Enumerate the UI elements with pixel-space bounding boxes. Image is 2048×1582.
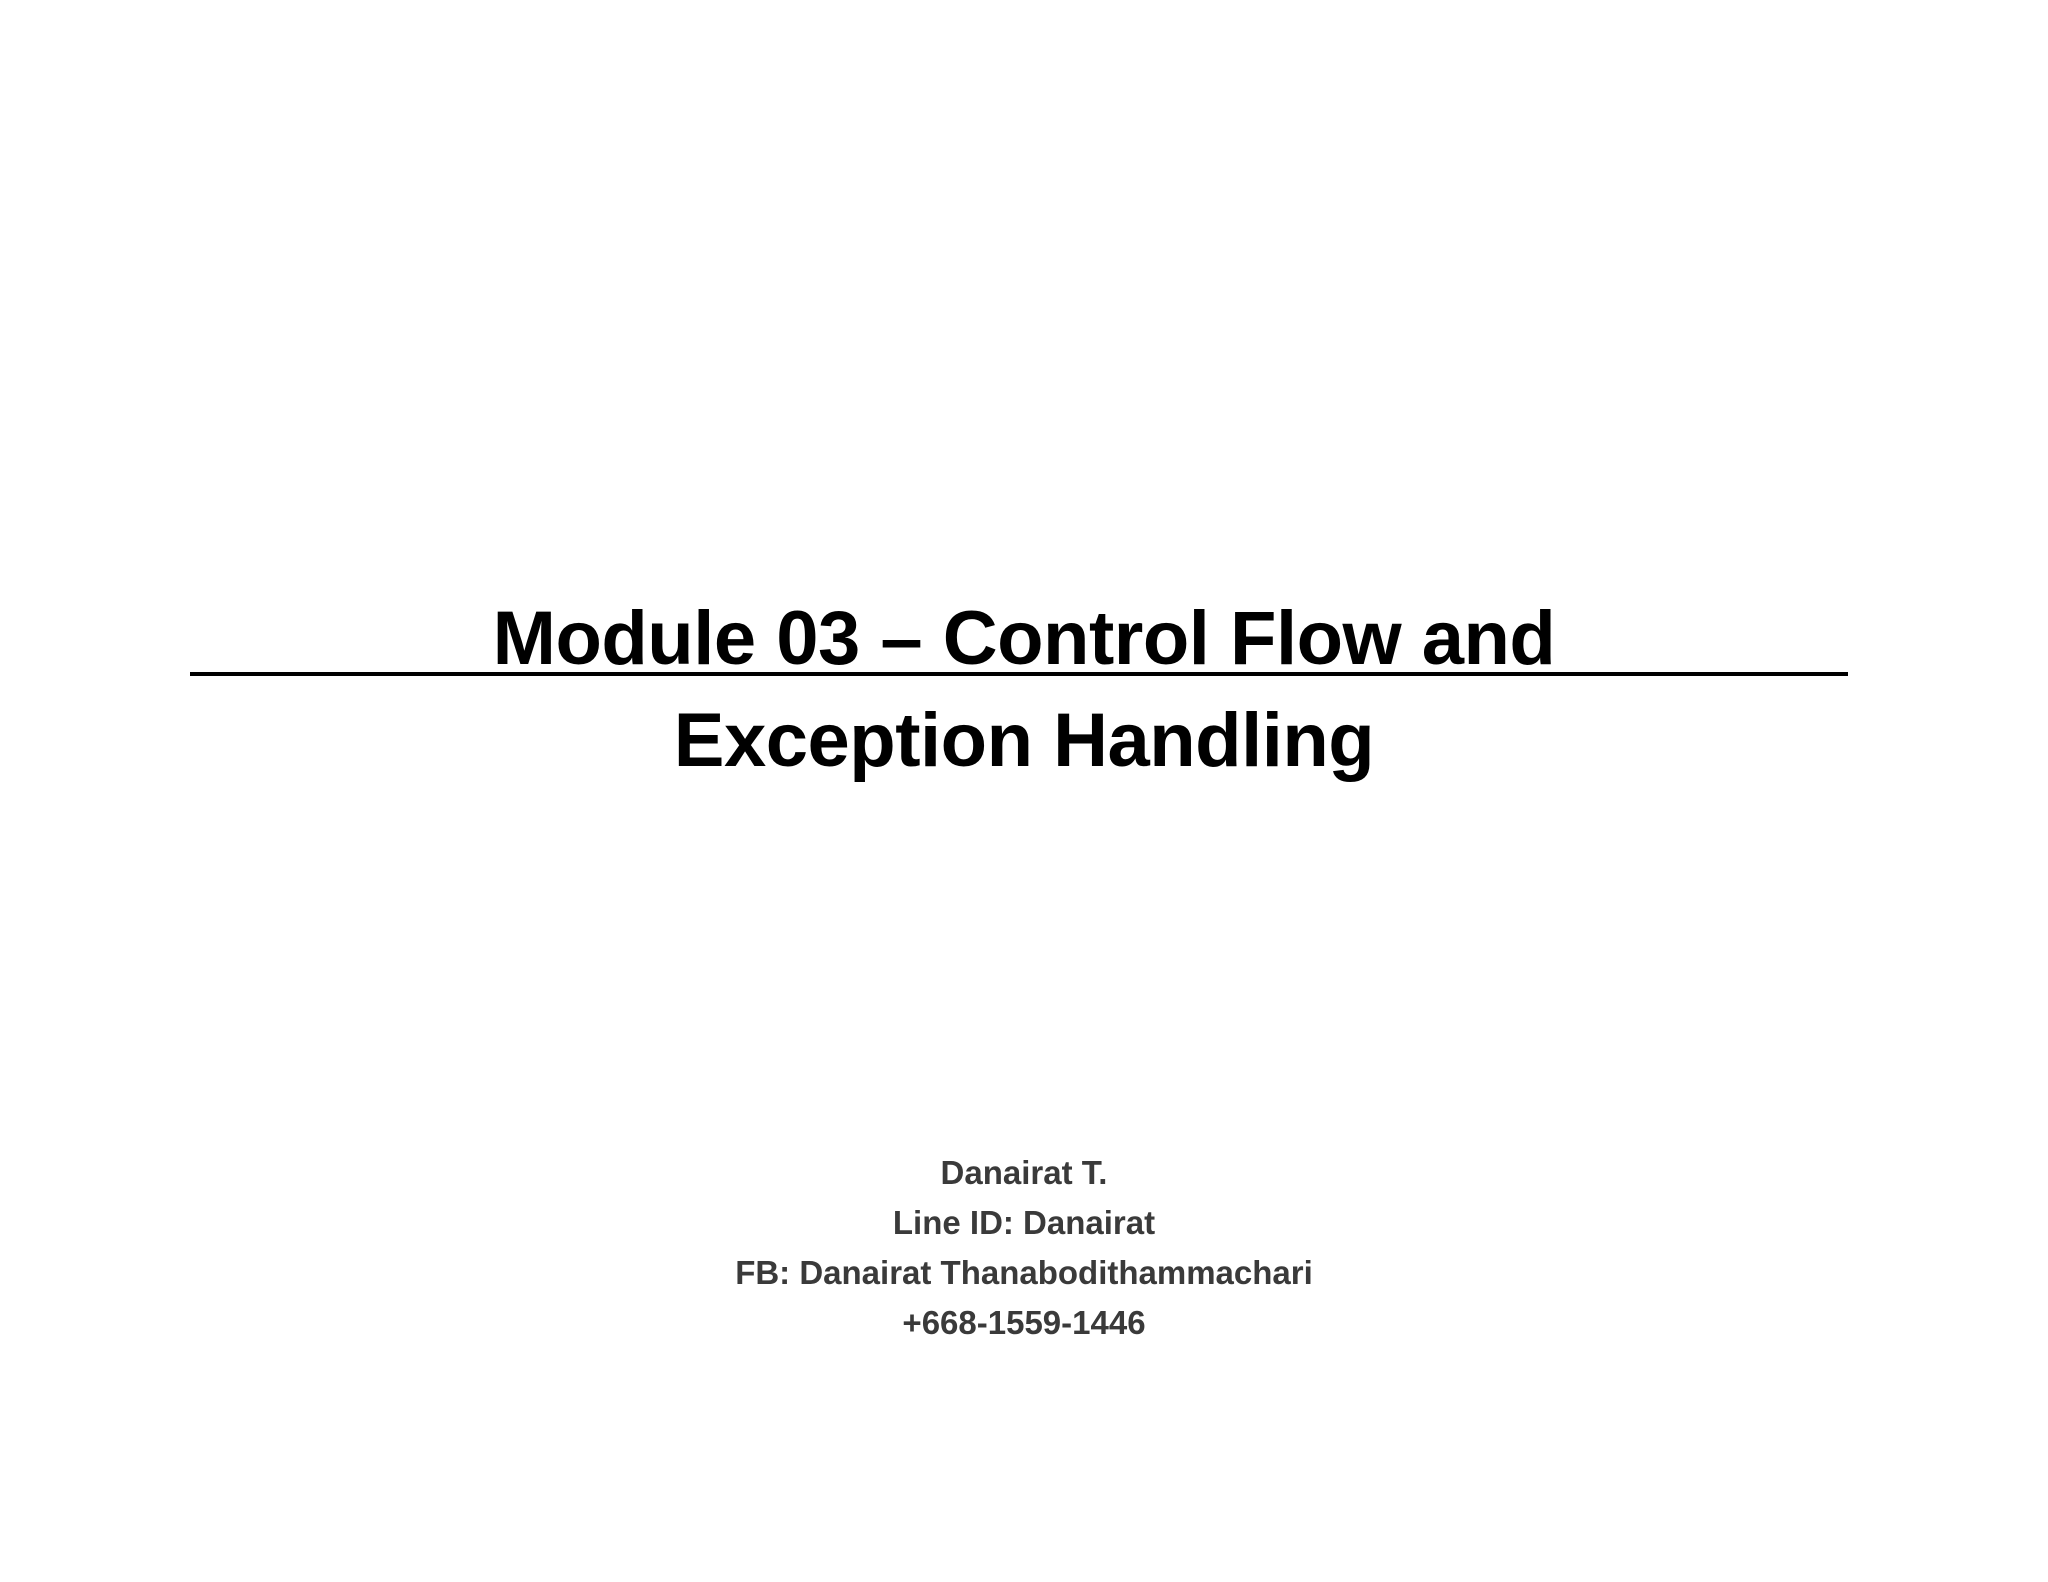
slide-title-line-1: Module 03 – Control Flow and [0,588,2048,690]
slide-title-line-1-text: Module 03 – Control Flow and [493,596,1556,681]
slide-title-block: Module 03 – Control Flow and Exception H… [0,588,2048,792]
presentation-slide: Module 03 – Control Flow and Exception H… [0,0,2048,1582]
facebook-name: FB: Danairat Thanabodithammachari [0,1248,2048,1298]
slide-subtitle-block: Danairat T. Line ID: Danairat FB: Danair… [0,1148,2048,1349]
phone-number: +668-1559-1446 [0,1298,2048,1348]
line-id: Line ID: Danairat [0,1198,2048,1248]
title-underline-rule [190,672,1848,676]
author-name: Danairat T. [0,1148,2048,1198]
slide-title-line-2: Exception Handling [0,690,2048,792]
